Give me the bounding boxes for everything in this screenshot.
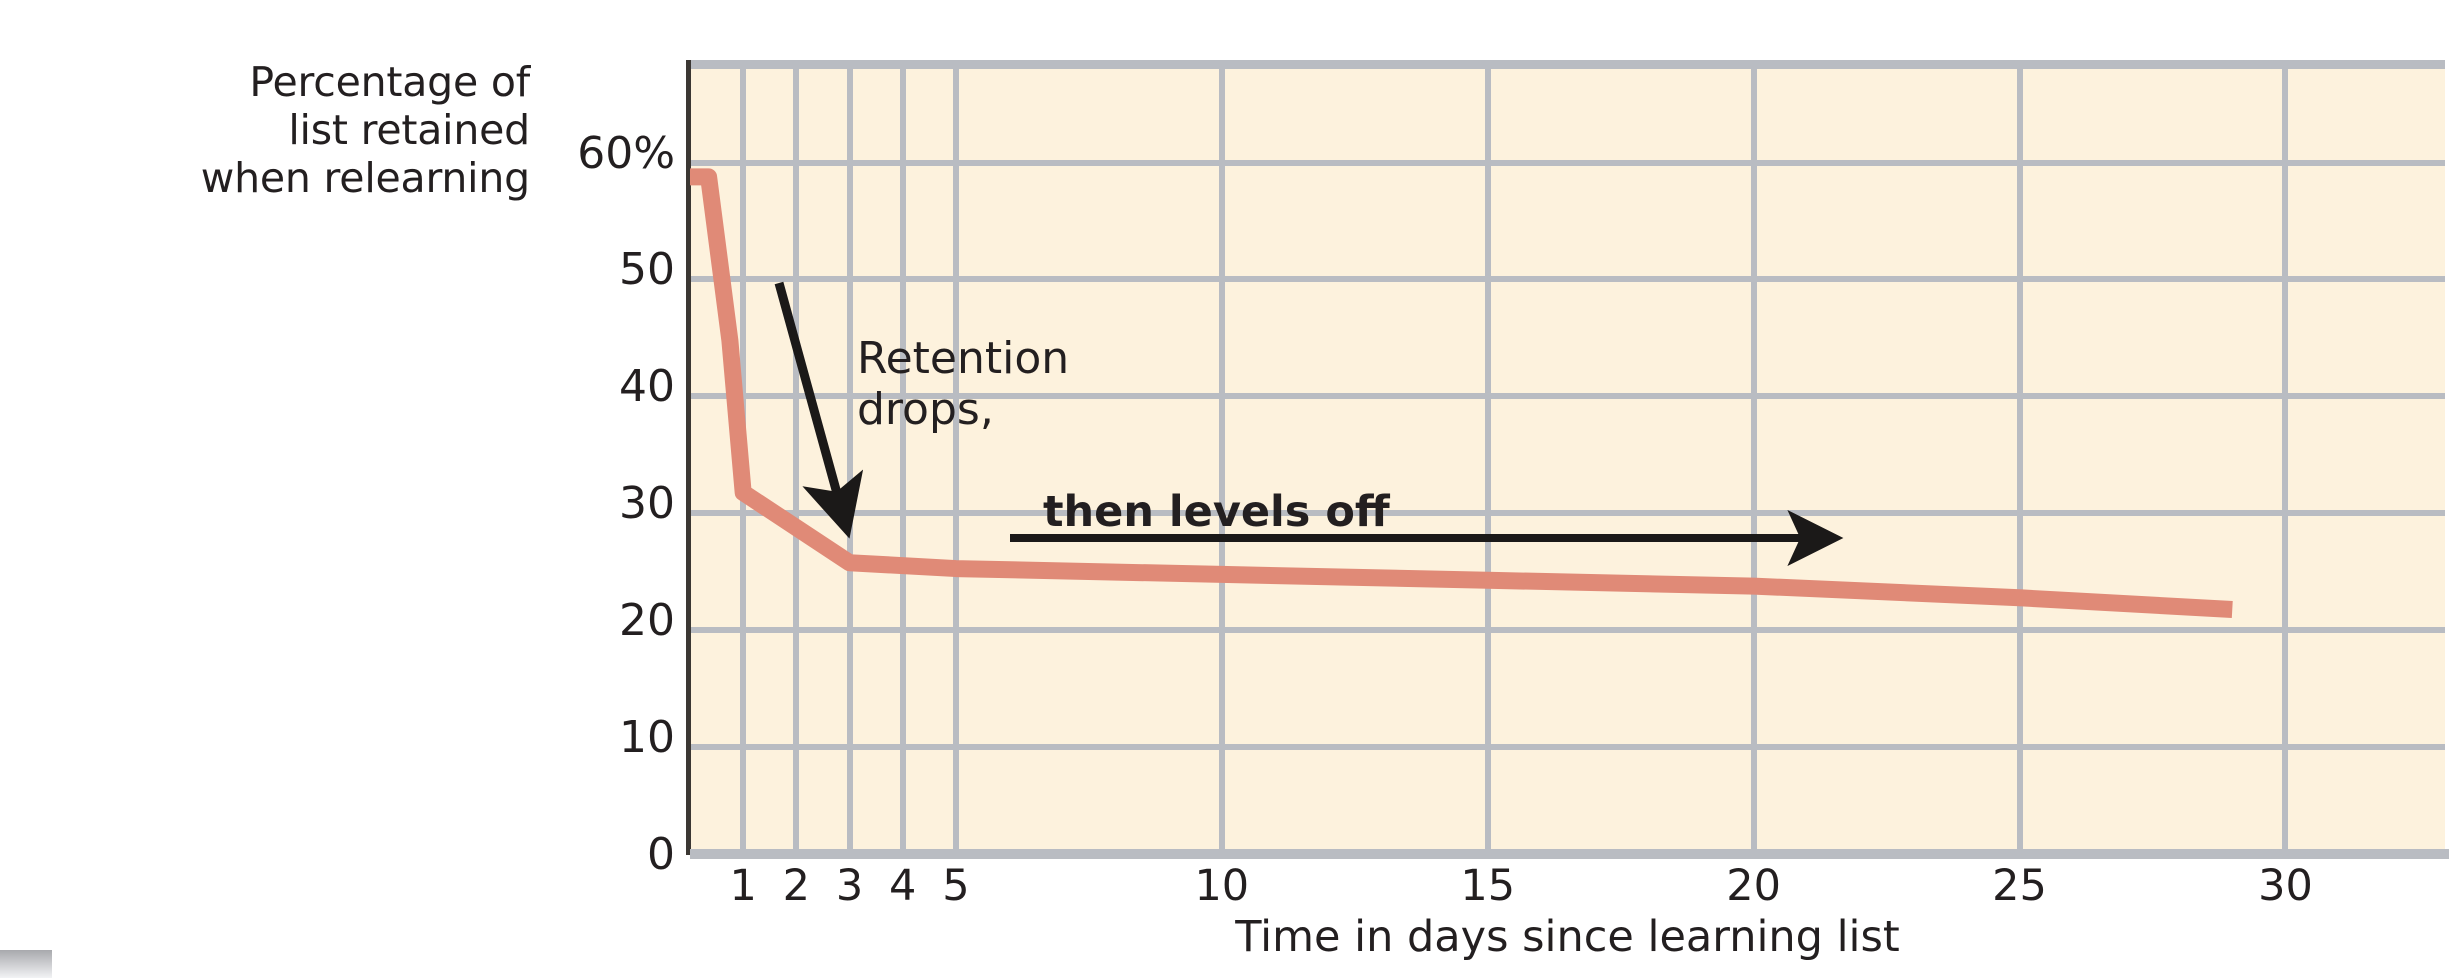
annotation-drops-line-2: drops, — [857, 384, 1069, 435]
x-tick-label: 20 — [1709, 862, 1799, 910]
x-tick-label: 10 — [1177, 862, 1267, 910]
x-axis-tick-labels: 123451015202530 — [0, 862, 2449, 918]
y-tick-label: 60% — [525, 132, 675, 176]
y-tick-label: 30 — [525, 482, 675, 526]
y-axis-title-line-2: list retained — [60, 106, 530, 154]
annotation-retention-drops: Retention drops, — [857, 333, 1069, 435]
x-tick-label: 30 — [2240, 862, 2330, 910]
y-tick-label: 40 — [525, 365, 675, 409]
x-tick-label: 5 — [911, 862, 1001, 910]
annotation-then-levels-off: then levels off — [1043, 488, 1390, 536]
x-tick-label: 25 — [1975, 862, 2065, 910]
forgetting-curve-figure: Percentage of list retained when relearn… — [0, 0, 2449, 978]
y-axis-title: Percentage of list retained when relearn… — [60, 58, 530, 202]
x-tick-label: 15 — [1443, 862, 1533, 910]
page-corner-scrap — [0, 950, 52, 978]
y-axis-title-line-3: when relearning — [60, 154, 530, 202]
x-axis-title: Time in days since learning list — [690, 912, 2445, 962]
y-tick-label: 50 — [525, 248, 675, 292]
y-axis-title-line-1: Percentage of — [60, 58, 530, 106]
y-tick-label: 20 — [525, 599, 675, 643]
y-axis-tick-labels: 60%50403020100 — [505, 0, 675, 978]
retention-curve — [690, 60, 2445, 855]
y-tick-label: 10 — [525, 716, 675, 760]
annotation-drops-line-1: Retention — [857, 333, 1069, 384]
